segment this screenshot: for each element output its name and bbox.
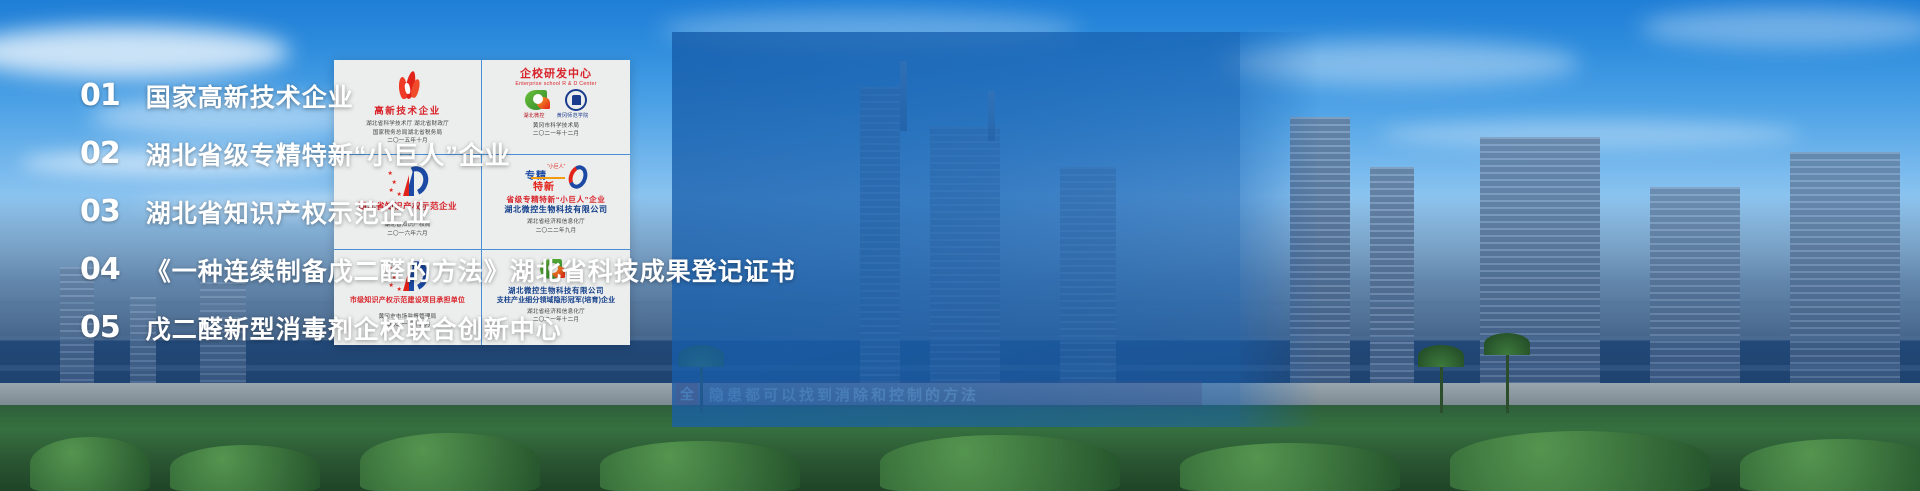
honor-number: 02 — [80, 139, 120, 169]
honor-text: 戊二醛新型消毒剂企校联合创新中心 — [146, 310, 562, 346]
honor-number: 03 — [80, 197, 120, 227]
honor-text: 《一种连续制备戊二醛的方法》湖北省科技成果登记证书 — [146, 252, 796, 288]
bush — [170, 445, 320, 491]
bush — [30, 437, 150, 491]
cloud — [1640, 8, 1920, 48]
bush — [600, 441, 800, 491]
honor-item[interactable]: 05 戊二醛新型消毒剂企校联合创新中心 — [80, 310, 1920, 346]
bush — [1450, 431, 1710, 491]
honor-item[interactable]: 02 湖北省级专精特新“小巨人”企业 — [80, 136, 1920, 172]
honor-item[interactable]: 04 《一种连续制备戊二醛的方法》湖北省科技成果登记证书 — [80, 252, 1920, 288]
honor-text: 湖北省级专精特新“小巨人”企业 — [146, 136, 511, 172]
honor-text: 湖北省知识产权示范企业 — [146, 194, 432, 230]
honor-item[interactable]: 01 国家高新技术企业 — [80, 78, 1920, 114]
honor-number: 04 — [80, 255, 120, 285]
bush — [360, 433, 540, 491]
honor-number: 05 — [80, 313, 120, 343]
honor-number: 01 — [80, 81, 120, 111]
honor-item[interactable]: 03 湖北省知识产权示范企业 — [80, 194, 1920, 230]
bush — [1180, 443, 1400, 491]
honor-text: 国家高新技术企业 — [146, 78, 354, 114]
honors-list: 01 国家高新技术企业 02 湖北省级专精特新“小巨人”企业 03 湖北省知识产… — [80, 78, 1920, 346]
bush — [880, 435, 1120, 491]
bush — [1740, 439, 1920, 491]
